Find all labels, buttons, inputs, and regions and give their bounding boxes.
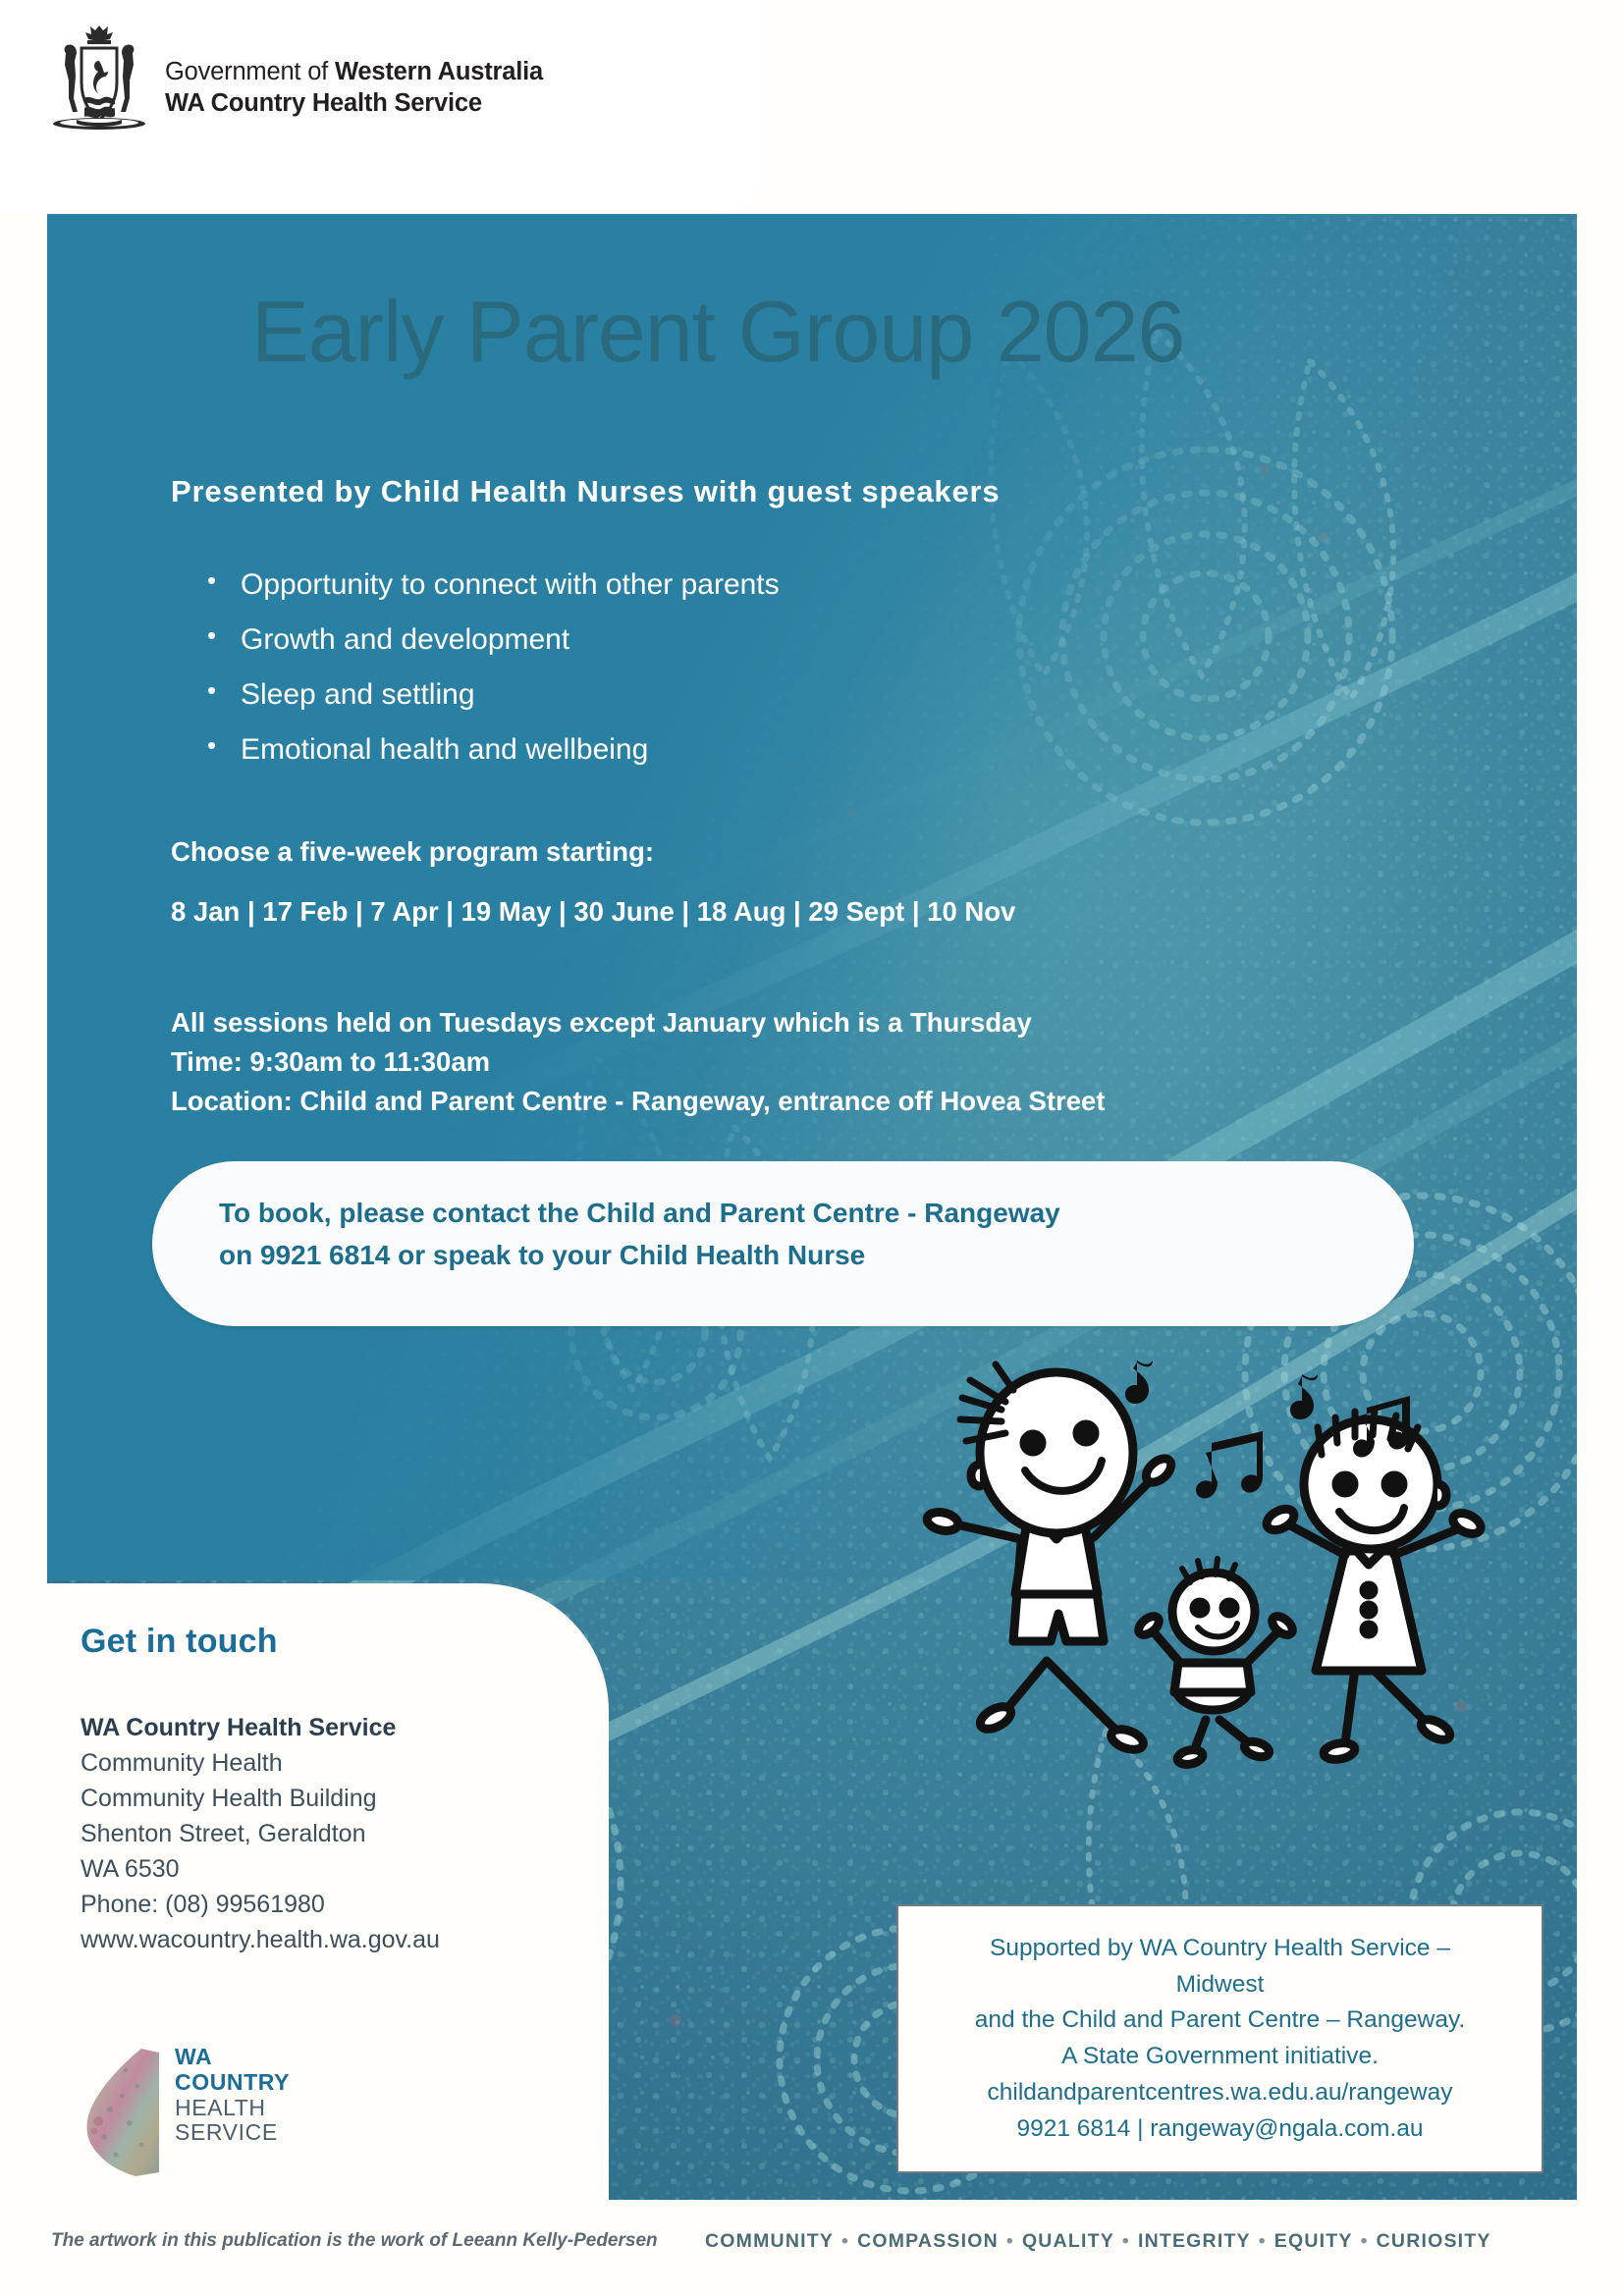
value-item: QUALITY: [1022, 2230, 1114, 2252]
music-note-icon: [1125, 1361, 1153, 1404]
logo-line-health: HEALTH: [175, 2096, 290, 2121]
wa-country-health-service-logo: WA COUNTRY HEALTH SERVICE: [81, 2043, 316, 2180]
program-dates: 8 Jan | 17 Feb | 7 Apr | 19 May | 30 Jun…: [171, 896, 1015, 928]
values-strip: COMMUNITY•COMPASSION•QUALITY•INTEGRITY•E…: [705, 2230, 1491, 2253]
booking-line-2: on 9921 6814 or speak to your Child Heal…: [219, 1234, 1060, 1276]
value-item: INTEGRITY: [1138, 2230, 1251, 2252]
list-item: Opportunity to connect with other parent…: [241, 567, 780, 603]
artwork-credit: The artwork in this publication is the w…: [51, 2230, 658, 2252]
list-item: Emotional health and wellbeing: [241, 732, 780, 768]
logo-line-wa: WA: [175, 2045, 290, 2070]
value-item: CURIOSITY: [1377, 2230, 1491, 2252]
value-item: COMMUNITY: [705, 2230, 834, 2252]
value-separator-icon: •: [1353, 2230, 1377, 2252]
booking-line-1: To book, please contact the Child and Pa…: [219, 1192, 1060, 1234]
contact-organisation: WA Country Health Service: [81, 1710, 440, 1745]
supported-line: and the Child and Parent Centre – Rangew…: [975, 2002, 1465, 2039]
wachs-logo-text: WA COUNTRY HEALTH SERVICE: [175, 2045, 290, 2146]
time-line: Time: 9:30am to 11:30am: [171, 1046, 490, 1078]
contact-line: Shenton Street, Geraldton: [81, 1816, 440, 1851]
value-separator-icon: •: [999, 2230, 1022, 2252]
supported-line: Midwest: [975, 1967, 1465, 2003]
contact-details: WA Country Health Service Community Heal…: [81, 1710, 440, 1957]
contact-line: WA 6530: [81, 1851, 440, 1887]
supported-line: A State Government initiative.: [975, 2039, 1465, 2075]
logo-line-service: SERVICE: [175, 2120, 290, 2146]
baby-figure: [1135, 1559, 1295, 1767]
sessions-line: All sessions held on Tuesdays except Jan…: [171, 1007, 1032, 1039]
booking-callout: To book, please contact the Child and Pa…: [152, 1161, 1414, 1326]
get-in-touch-heading: Get in touch: [81, 1623, 278, 1661]
value-item: EQUITY: [1274, 2230, 1353, 2252]
list-item: Growth and development: [241, 622, 780, 658]
logo-line-country: COUNTRY: [175, 2070, 290, 2096]
benefits-list: Opportunity to connect with other parent…: [201, 567, 780, 787]
poster-content: Early Parent Group 2026 Presented by Chi…: [0, 0, 1624, 2296]
supported-line: Supported by WA Country Health Service –: [975, 1931, 1465, 1967]
wachs-artwork-shape-icon: [81, 2047, 163, 2178]
dancing-family-illustration: [911, 1347, 1520, 1789]
location-line: Location: Child and Parent Centre - Rang…: [171, 1086, 1105, 1117]
music-note-icon: [1290, 1374, 1318, 1419]
list-item: Sleep and settling: [241, 677, 780, 713]
supported-website[interactable]: childandparentcentres.wa.edu.au/rangeway: [975, 2075, 1465, 2111]
contact-line: Community Health Building: [81, 1781, 440, 1816]
booking-text: To book, please contact the Child and Pa…: [219, 1192, 1060, 1277]
value-separator-icon: •: [1251, 2230, 1274, 2252]
adult-figure: [925, 1364, 1175, 1753]
supported-contact[interactable]: 9921 6814 | rangeway@ngala.com.au: [975, 2111, 1465, 2148]
music-note-icon: [1196, 1431, 1263, 1499]
contact-website[interactable]: www.wacountry.health.wa.gov.au: [81, 1922, 440, 1957]
value-separator-icon: •: [1114, 2230, 1138, 2252]
poster-subtitle: Presented by Child Health Nurses with gu…: [171, 474, 1000, 509]
program-label: Choose a five-week program starting:: [171, 836, 654, 868]
supported-by-box: Supported by WA Country Health Service –…: [896, 1904, 1543, 2173]
value-separator-icon: •: [834, 2230, 857, 2252]
contact-phone: Phone: (08) 99561980: [81, 1887, 440, 1922]
contact-line: Community Health: [81, 1745, 440, 1781]
page-title: Early Parent Group 2026: [251, 289, 1184, 375]
poster-canvas: Government of Western Australia WA Count…: [0, 0, 1624, 2296]
value-item: COMPASSION: [857, 2230, 999, 2252]
child-figure: [1264, 1410, 1485, 1762]
supported-by-text: Supported by WA Country Health Service –…: [975, 1931, 1465, 2148]
